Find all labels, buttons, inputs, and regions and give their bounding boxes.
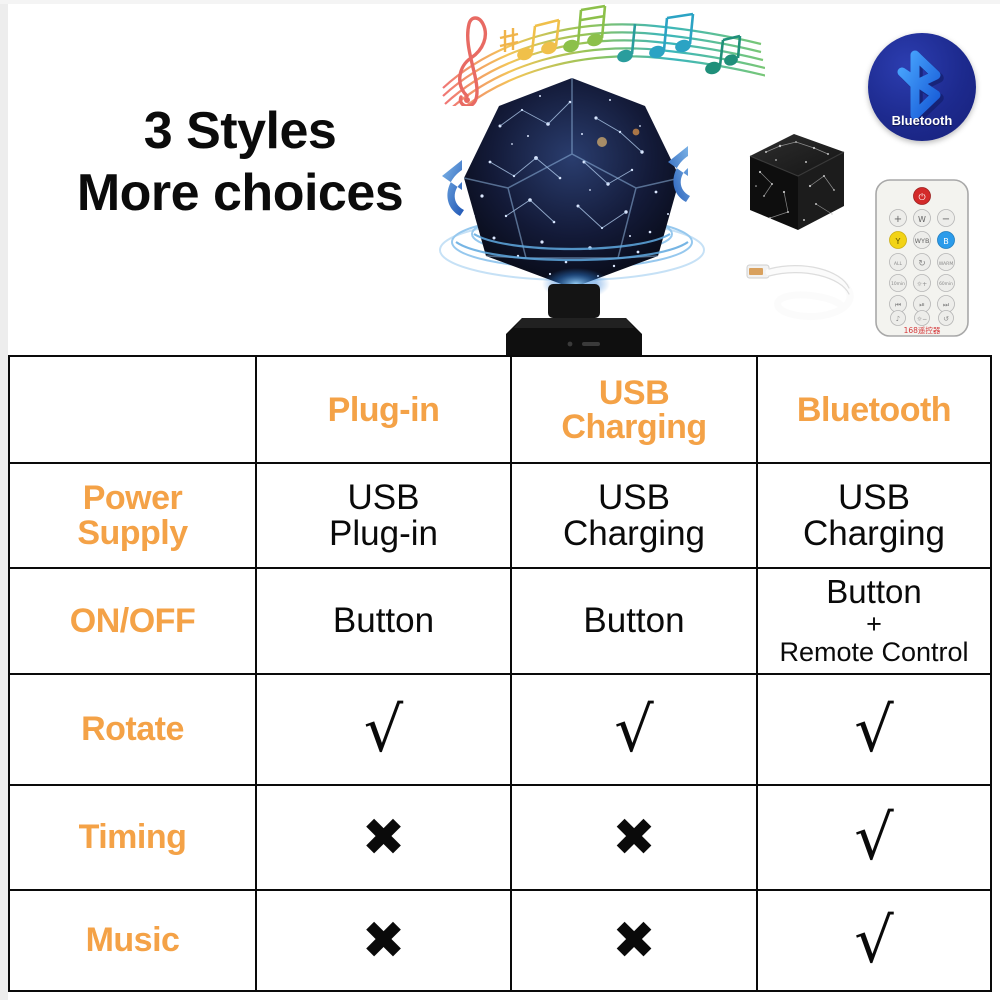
cell-power-supply-bluetooth: USB Charging <box>757 463 991 568</box>
table-row-timing: Timing ✖ ✖ √ <box>9 785 991 890</box>
star-projector-lamp <box>430 66 715 356</box>
svg-text:↻: ↻ <box>918 259 926 269</box>
svg-text:B: B <box>943 237 949 246</box>
svg-text:↺: ↺ <box>943 315 949 323</box>
cross-icon: ✖ <box>612 915 656 967</box>
cell-timing-usb-charging: ✖ <box>511 785 757 890</box>
bluetooth-badge-label: Bluetooth <box>868 113 976 128</box>
svg-text:WYB: WYB <box>915 237 930 245</box>
headline-line-2: More choices <box>40 166 440 220</box>
bluetooth-icon <box>902 55 939 118</box>
svg-text:⏮: ⏮ <box>895 301 901 309</box>
cell-rotate-plug-in: √ <box>256 674 511 785</box>
cell-timing-bluetooth: √ <box>757 785 991 890</box>
bluetooth-badge: Bluetooth <box>868 33 976 141</box>
table-row-music: Music ✖ ✖ √ <box>9 890 991 991</box>
cross-icon: ✖ <box>362 915 406 967</box>
check-icon: √ <box>854 910 894 972</box>
svg-text:10min: 10min <box>891 281 905 287</box>
table-header-row: Plug-in USB Charging Bluetooth <box>9 356 991 463</box>
row-label-power-supply: Power Supply <box>9 463 256 568</box>
svg-text:ALL: ALL <box>894 261 903 267</box>
svg-text:WARM: WARM <box>939 261 954 267</box>
cross-icon: ✖ <box>612 812 656 864</box>
svg-text:⏭: ⏭ <box>943 301 950 309</box>
comparison-table: Plug-in USB Charging Bluetooth Power Sup… <box>8 355 992 992</box>
cross-icon: ✖ <box>362 812 406 864</box>
headline-line-1: 3 Styles <box>40 104 440 158</box>
row-label-on-off: ON/OFF <box>9 568 256 674</box>
row-label-music: Music <box>9 890 256 991</box>
check-icon: √ <box>854 807 894 869</box>
check-icon: √ <box>614 699 654 761</box>
hero-section: 3 Styles More choices <box>0 0 1000 355</box>
svg-text:♪: ♪ <box>896 315 900 323</box>
check-icon: √ <box>854 699 894 761</box>
cell-rotate-usb-charging: √ <box>511 674 757 785</box>
svg-text:W: W <box>918 215 926 224</box>
remote-model-label: 168遥控器 <box>904 325 941 335</box>
column-header-plug-in: Plug-in <box>256 356 511 463</box>
svg-text:☼+: ☼+ <box>917 281 927 288</box>
table-corner-cell <box>9 356 256 463</box>
table-row-power-supply: Power Supply USB Plug-in USB Charging US… <box>9 463 991 568</box>
svg-text:−: − <box>942 214 950 225</box>
svg-text:60min: 60min <box>939 281 953 287</box>
remote-control: ⏻ + W − Y WYB B <box>874 178 970 338</box>
row-label-timing: Timing <box>9 785 256 890</box>
column-header-usb-charging: USB Charging <box>511 356 757 463</box>
svg-text:☼−: ☼− <box>917 316 927 323</box>
cell-rotate-bluetooth: √ <box>757 674 991 785</box>
table-row-on-off: ON/OFF Button Button Button + Remote Con… <box>9 568 991 674</box>
cell-music-bluetooth: √ <box>757 890 991 991</box>
column-header-bluetooth: Bluetooth <box>757 356 991 463</box>
constellation-gift-box <box>736 130 852 235</box>
cell-on-off-plug-in: Button <box>256 568 511 674</box>
svg-text:Y: Y <box>895 237 901 246</box>
cell-on-off-usb-charging: Button <box>511 568 757 674</box>
check-icon: √ <box>364 699 404 761</box>
cell-music-plug-in: ✖ <box>256 890 511 991</box>
cell-power-supply-plug-in: USB Plug-in <box>256 463 511 568</box>
cell-on-off-bluetooth: Button + Remote Control <box>757 568 991 674</box>
svg-text:⏻: ⏻ <box>918 192 925 203</box>
svg-text:+: + <box>894 214 902 225</box>
cell-timing-plug-in: ✖ <box>256 785 511 890</box>
svg-text:⏯: ⏯ <box>919 301 925 309</box>
row-label-rotate: Rotate <box>9 674 256 785</box>
cell-power-supply-usb-charging: USB Charging <box>511 463 757 568</box>
table-row-rotate: Rotate √ √ √ <box>9 674 991 785</box>
usb-cable-icon <box>745 245 870 330</box>
cell-music-usb-charging: ✖ <box>511 890 757 991</box>
product-comparison-infographic: 3 Styles More choices <box>0 0 1000 1000</box>
page-title: 3 Styles More choices <box>40 104 440 220</box>
